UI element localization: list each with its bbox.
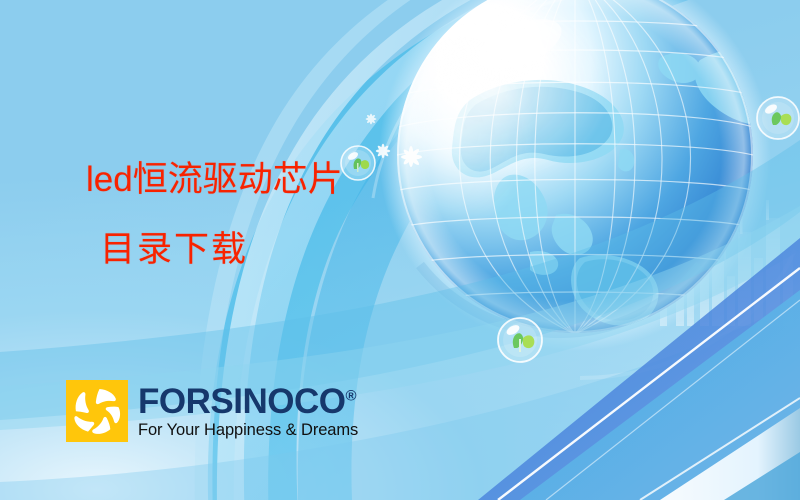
logo-text-block: FORSINOCO® For Your Happiness & Dreams: [138, 384, 358, 439]
flower-sparkle-1: [376, 144, 390, 158]
headline-line-2: 目录下载: [100, 232, 248, 267]
flower-sparkle-group: [366, 114, 422, 167]
logo-wordmark: FORSINOCO®: [138, 384, 358, 419]
flower-sparkle-2: [401, 146, 422, 167]
company-logo[interactable]: FORSINOCO® For Your Happiness & Dreams: [66, 380, 358, 442]
four-petal-pinwheel-icon: [66, 380, 128, 442]
flower-sparkle-3: [366, 114, 377, 125]
city-skyline-silhouette: [660, 200, 793, 326]
corner-diagonal-bands: [478, 238, 800, 500]
bubble-leaf-right: [757, 97, 799, 139]
banner-canvas: led恒流驱动芯片 目录下载 FORSINOCO® For Your Happi…: [0, 0, 800, 500]
headline-line-1: led恒流驱动芯片: [86, 162, 343, 197]
registered-trademark-icon: ®: [345, 387, 356, 404]
bubble-leaf-bottom: [498, 318, 542, 362]
logo-wordmark-text: FORSINOCO: [138, 382, 345, 421]
globe-outer-reflection: [373, 0, 795, 378]
logo-tagline: For Your Happiness & Dreams: [138, 422, 358, 439]
globe-illustration: [374, 0, 800, 351]
bubble-leaf-left: [341, 146, 375, 180]
